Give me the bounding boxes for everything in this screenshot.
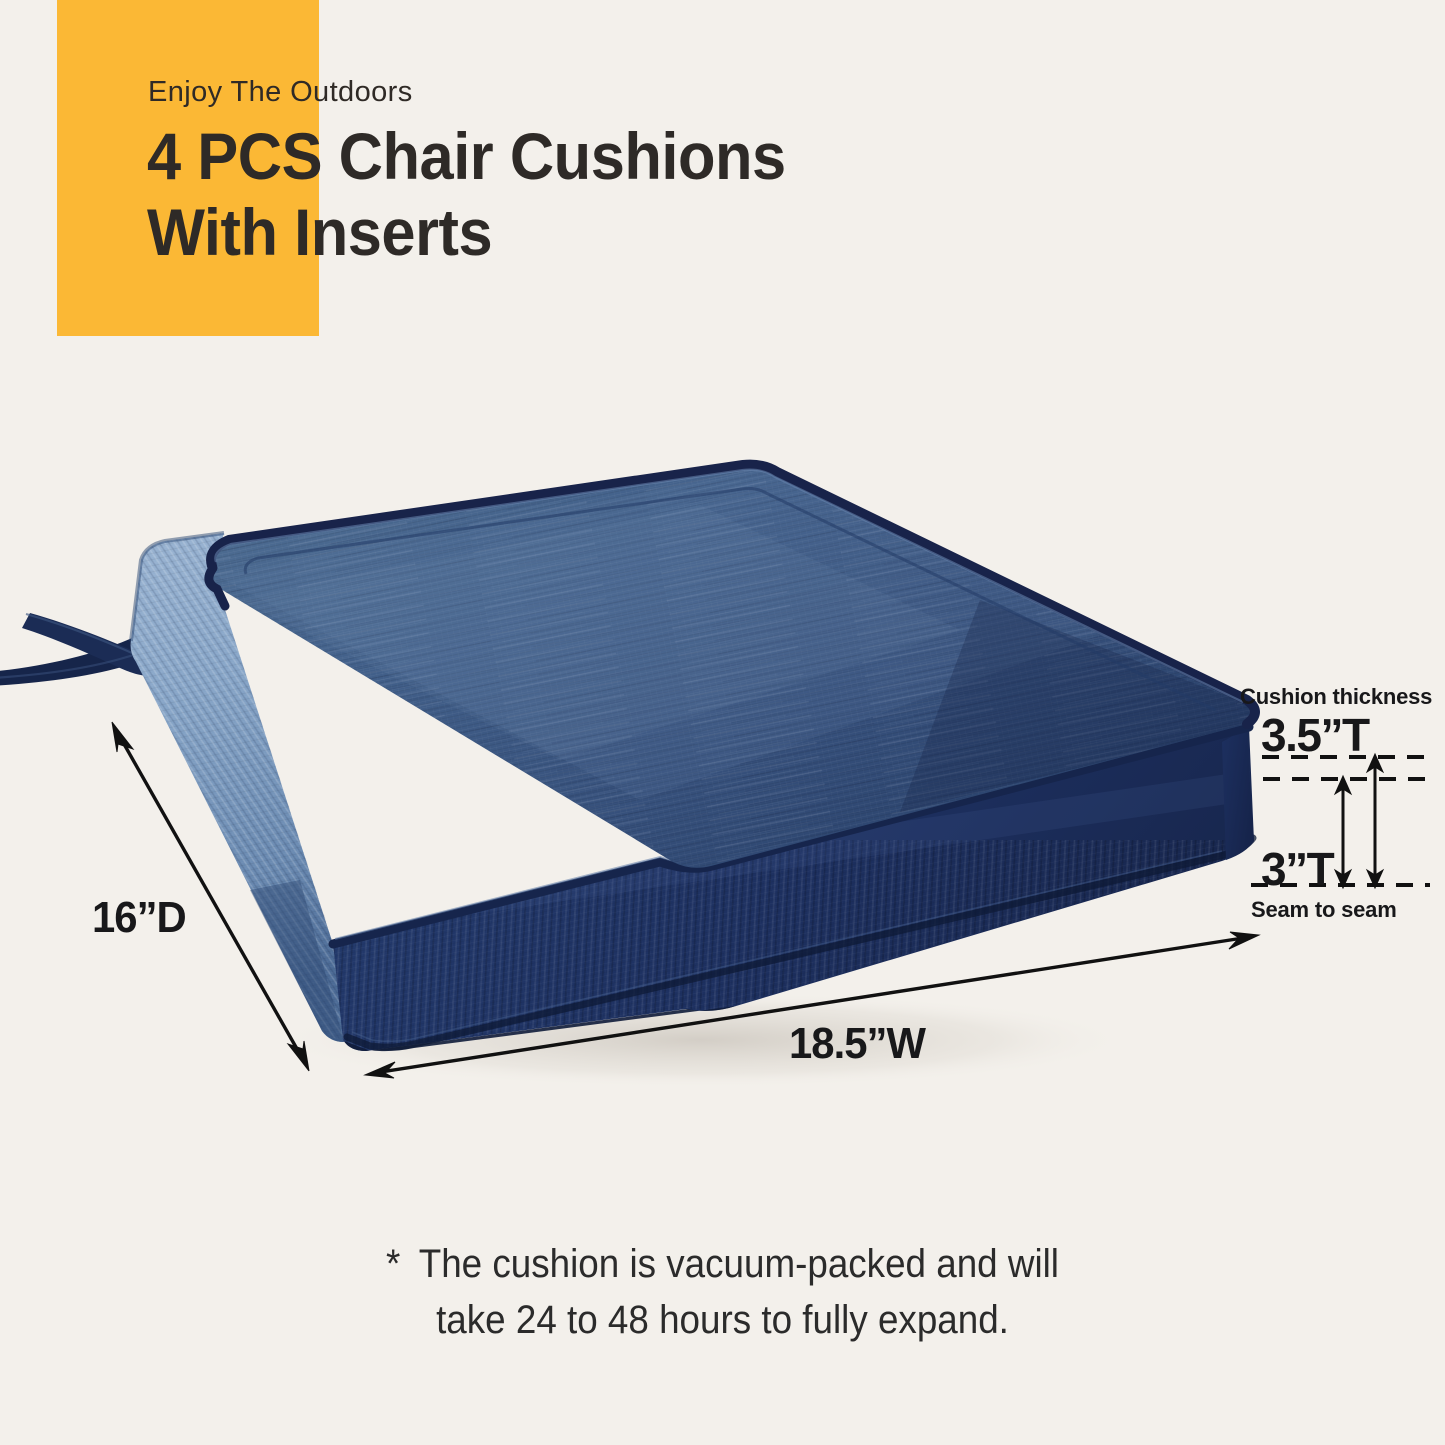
- infographic-canvas: Enjoy The Outdoors 4 PCS Chair Cushions …: [0, 0, 1445, 1445]
- headline-line-2: With Inserts: [147, 194, 1077, 270]
- width-label: 18.5”W: [789, 1019, 925, 1069]
- seam-caption: Seam to seam: [1251, 897, 1397, 923]
- footnote-text-1: The cushion is vacuum-packed and will: [419, 1242, 1059, 1286]
- cushion-top-face: [180, 440, 1300, 890]
- footnote-line-1: *The cushion is vacuum-packed and will: [58, 1236, 1387, 1292]
- eyebrow-text: Enjoy The Outdoors: [148, 76, 413, 109]
- seam-thickness-label: 3”T: [1261, 842, 1333, 896]
- thickness-caption: Cushion thickness: [1240, 684, 1432, 710]
- product-shadow: [270, 992, 1130, 1088]
- footnote: *The cushion is vacuum-packed and will t…: [58, 1236, 1387, 1348]
- page-title: 4 PCS Chair Cushions With Inserts: [147, 118, 1077, 270]
- cushion-left-face: [100, 520, 400, 1080]
- footnote-line-2: take 24 to 48 hours to fully expand.: [58, 1292, 1387, 1348]
- seam-measure-arrow: [1335, 776, 1351, 888]
- cushion-ties: [0, 613, 172, 686]
- thickness-measure-arrow: [1367, 754, 1383, 888]
- headline-line-1: 4 PCS Chair Cushions: [147, 118, 1077, 194]
- cushion-right-face: [1222, 724, 1254, 860]
- asterisk-icon: *: [386, 1236, 400, 1292]
- depth-label: 16”D: [92, 893, 186, 943]
- thickness-label: 3.5”T: [1261, 708, 1369, 762]
- dimension-arrows: [112, 722, 1259, 1078]
- cushion-welt-seam: [333, 722, 1249, 944]
